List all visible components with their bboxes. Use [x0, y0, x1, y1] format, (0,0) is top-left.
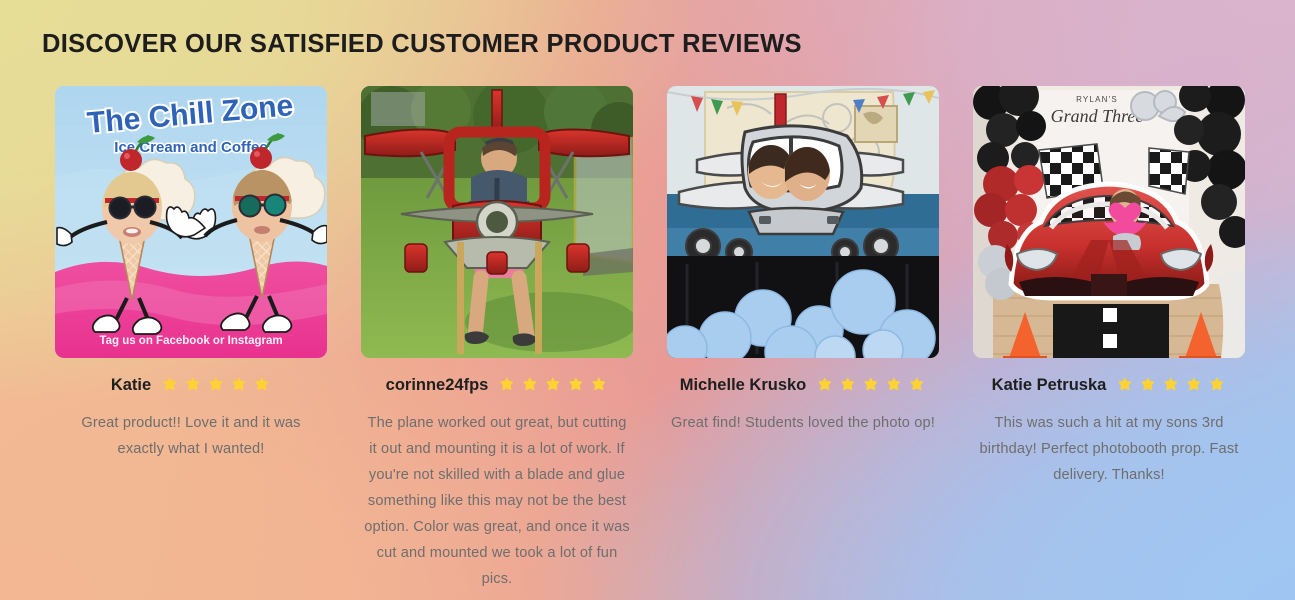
rating-stars — [815, 376, 926, 395]
review-text: Great product!! Love it and it was exact… — [55, 410, 327, 462]
reviewer-name: Katie Petruska — [992, 376, 1107, 395]
reviewer-name: Katie — [111, 376, 151, 395]
review-text: The plane worked out great, but cutting … — [361, 410, 633, 592]
review-photo-biplane[interactable] — [361, 86, 633, 358]
svg-text:RYLAN'S: RYLAN'S — [1076, 95, 1118, 104]
reviewer-name: corinne24fps — [386, 376, 489, 395]
review-meta: Katie Petruska — [973, 374, 1245, 396]
review-photo-jet[interactable]: Bon — [667, 86, 939, 358]
review-photo-chill-zone[interactable]: The Chill Zone Ice Cream and Coffee — [55, 86, 327, 358]
review-meta: Katie — [55, 374, 327, 396]
review-text: This was such a hit at my sons 3rd birth… — [973, 410, 1245, 488]
review-meta: corinne24fps — [361, 374, 633, 396]
review-card: corinne24fps The plane worked out great,… — [361, 86, 633, 592]
review-card: RYLAN'S Grand Three — [973, 86, 1245, 592]
svg-text:Grand Three: Grand Three — [1051, 106, 1144, 126]
reviewer-name: Michelle Krusko — [680, 376, 807, 395]
rating-stars — [160, 376, 271, 395]
reviews-list: The Chill Zone Ice Cream and Coffee — [55, 86, 1245, 592]
review-photo-race-car[interactable]: RYLAN'S Grand Three — [973, 86, 1245, 358]
rating-stars — [497, 376, 608, 395]
rating-stars — [1115, 376, 1226, 395]
review-card: Bon — [667, 86, 939, 592]
page-title: DISCOVER OUR SATISFIED CUSTOMER PRODUCT … — [42, 30, 802, 59]
svg-text:Tag us on Facebook or Instagra: Tag us on Facebook or Instagram — [99, 335, 282, 347]
reviews-page: DISCOVER OUR SATISFIED CUSTOMER PRODUCT … — [0, 0, 1295, 600]
review-card: The Chill Zone Ice Cream and Coffee — [55, 86, 327, 592]
review-meta: Michelle Krusko — [667, 374, 939, 396]
review-text: Great find! Students loved the photo op! — [667, 410, 939, 436]
